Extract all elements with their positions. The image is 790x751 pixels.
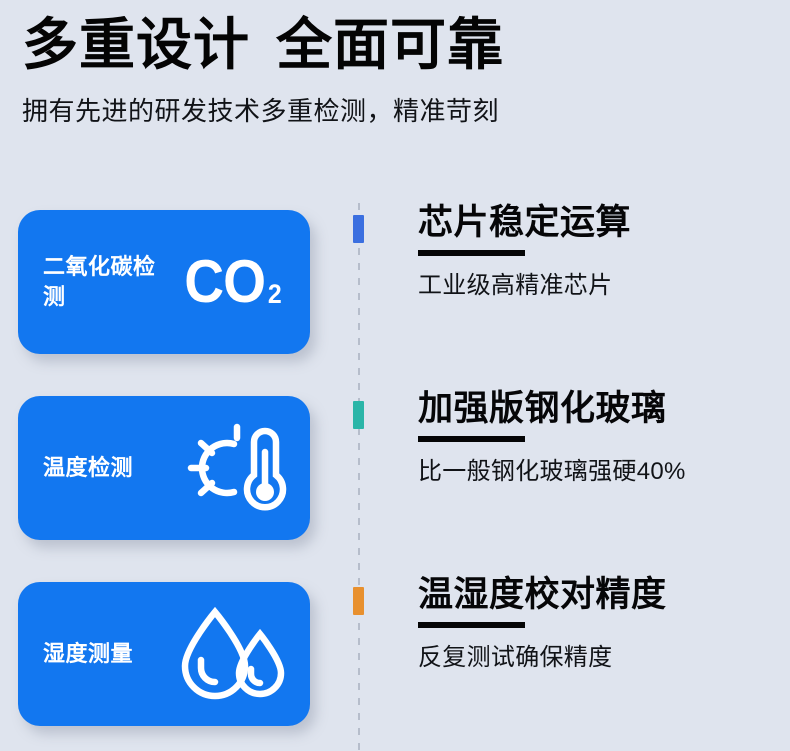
promo-page: 多重设计全面可靠 拥有先进的研发技术多重检测，精准苛刻 二氧化碳检测 CO2 芯… [0,0,790,751]
feature-title: 温湿度校对精度 [418,575,784,615]
feature-row: 二氧化碳检测 CO2 芯片稳定运算 工业级高精准芯片 [0,203,790,389]
page-title-part2: 全面可靠 [276,13,504,76]
sensor-card-temperature[interactable]: 温度检测 [18,396,310,540]
co2-icon-subscript: 2 [268,281,281,308]
feature-rows: 二氧化碳检测 CO2 芯片稳定运算 工业级高精准芯片 温度检测 [0,203,790,751]
thermometer-sun-icon [172,416,294,520]
page-header: 多重设计全面可靠 拥有先进的研发技术多重检测，精准苛刻 [22,14,762,128]
sensor-card-co2[interactable]: 二氧化碳检测 CO2 [18,210,310,354]
feature-description: 比一般钢化玻璃强硬40% [418,451,784,486]
feature-text-block: 芯片稳定运算 工业级高精准芯片 [418,203,784,300]
co2-icon-text: CO [185,252,266,312]
feature-text-block: 加强版钢化玻璃 比一般钢化玻璃强硬40% [418,389,784,486]
page-subtitle: 拥有先进的研发技术多重检测，精准苛刻 [22,91,762,128]
page-title-part1: 多重设计 [22,13,250,76]
feature-title: 加强版钢化玻璃 [418,389,784,429]
feature-row: 湿度测量 温湿度校对精度 反复测试确保精度 [0,575,790,751]
feature-underline [418,436,525,442]
feature-title: 芯片稳定运算 [418,203,784,243]
sensor-card-label: 湿度测量 [43,639,169,669]
feature-underline [418,622,525,628]
feature-underline [418,250,525,256]
sensor-card-label: 二氧化碳检测 [43,252,169,311]
sensor-card-label: 温度检测 [43,453,169,483]
sensor-card-humidity[interactable]: 湿度测量 [18,582,310,726]
feature-row: 温度检测 [0,389,790,575]
row-marker-blue [353,215,364,243]
row-marker-orange [353,587,364,615]
feature-description: 反复测试确保精度 [418,637,784,672]
page-title: 多重设计全面可靠 [22,14,762,77]
row-marker-teal [353,401,364,429]
co2-icon: CO2 [172,230,294,334]
feature-description: 工业级高精准芯片 [418,265,784,300]
feature-text-block: 温湿度校对精度 反复测试确保精度 [418,575,784,672]
water-droplets-icon [172,602,294,706]
